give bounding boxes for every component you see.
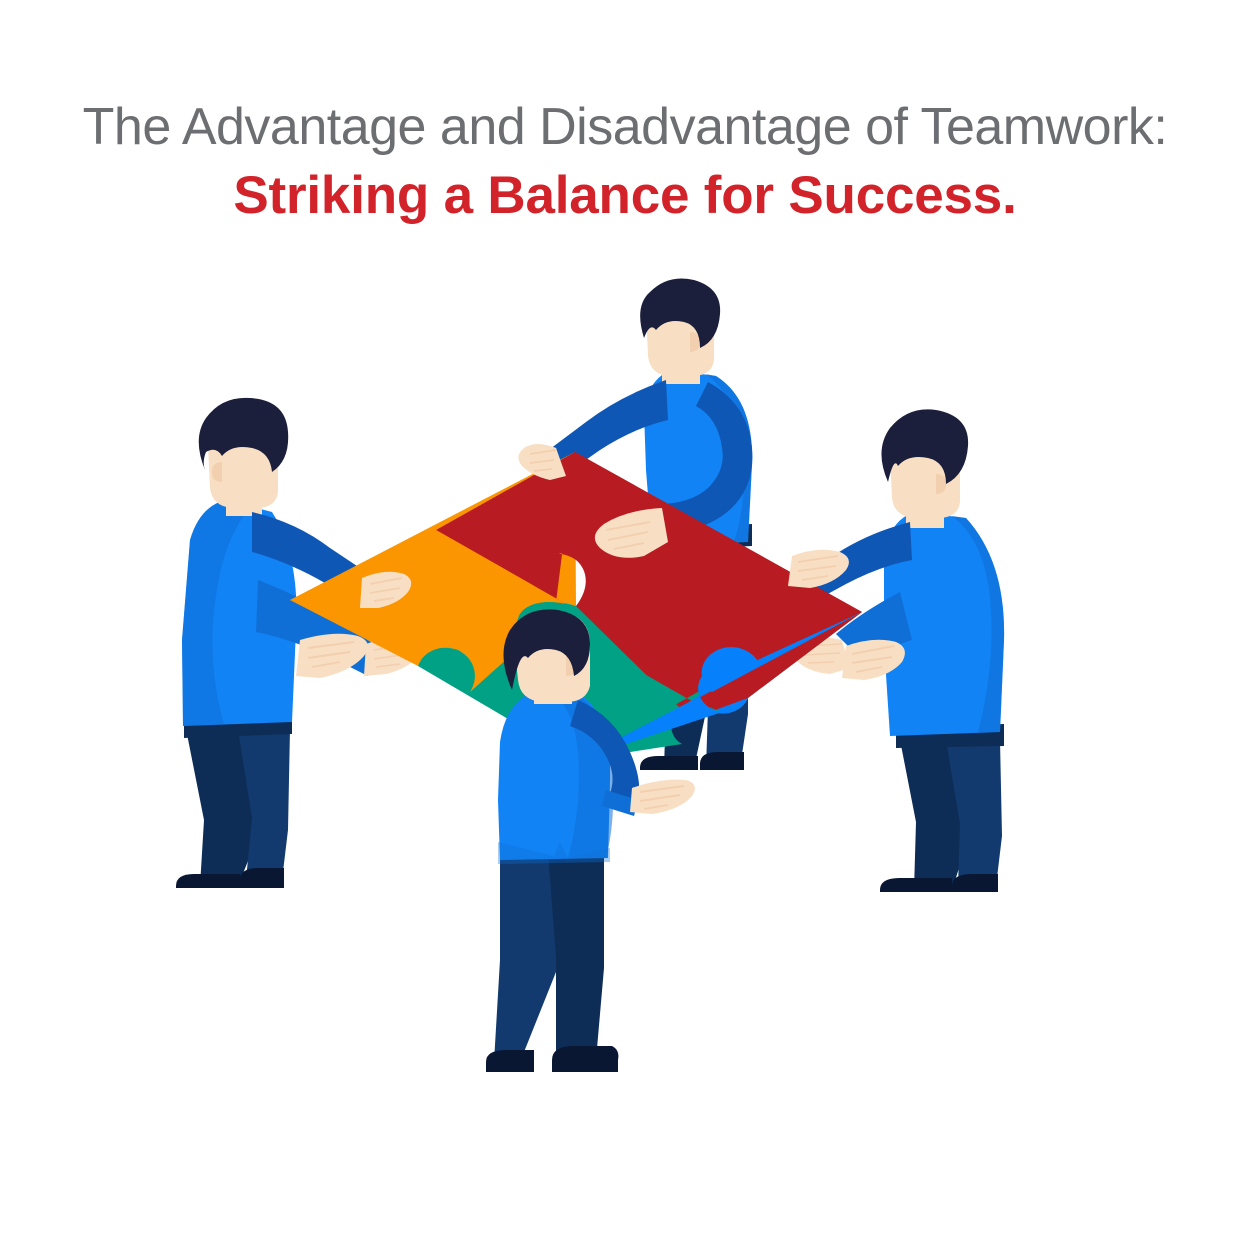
figure-front-shoe-front [552,1046,618,1072]
figure-left-shoe-front [240,868,284,888]
figure-left-hand-lower-overlay [296,634,368,678]
figure-right-shoe-back [880,878,952,892]
figure-front-leg-front [548,852,604,1060]
figure-top-shoe-front [700,752,744,770]
figure-front-hand [630,780,695,814]
figure-right-shoe-front [952,874,998,892]
figure-front-shoe-back [486,1050,534,1072]
figure-left-shoe-back [176,874,242,888]
teamwork-illustration [0,0,1250,1250]
poster-canvas: The Advantage and Disadvantage of Teamwo… [0,0,1250,1250]
figure-top-shoe-back [640,756,698,770]
